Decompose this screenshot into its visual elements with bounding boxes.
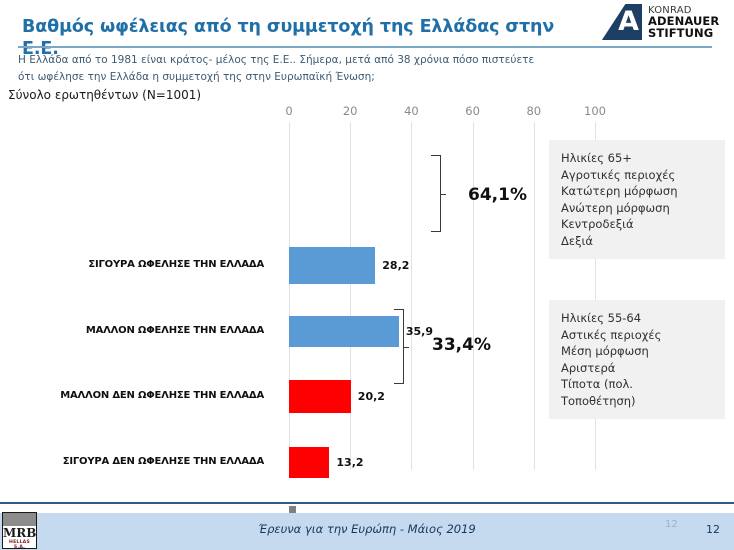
footer-page-number: 12 (706, 523, 720, 536)
footer-divider (0, 502, 734, 504)
bar-3 (289, 447, 329, 478)
bar-value-0: 28,2 (382, 259, 409, 272)
category-label-2: ΜΑΛΛΟΝ ΔΕΝ ΩΦΕΛΗΣΕ ΤΗΝ ΕΛΛΑΔΑ (8, 390, 278, 401)
x-axis-tick-40: 40 (404, 104, 419, 118)
mrb-wordmark: MRB (3, 526, 36, 540)
category-label-1: ΜΑΛΛΟΝ ΩΦΕΛΗΣΕ ΤΗΝ ΕΛΛΑΔΑ (8, 325, 278, 336)
gridline-40 (411, 122, 412, 470)
question-line-1: Η Ελλάδα από το 1981 είναι κράτος- μέλος… (18, 52, 578, 69)
mrb-logo-bar (3, 513, 36, 526)
bracket-1 (394, 309, 404, 384)
bar-0 (289, 247, 375, 284)
kas-letter-a: A (618, 7, 639, 37)
category-label-3: ΣΙΓΟΥΡΑ ΔΕΝ ΩΦΕΛΗΣΕ ΤΗΝ ΕΛΛΑΔΑ (8, 456, 278, 467)
kas-line-stiftung: STIFTUNG (648, 28, 719, 40)
x-axis-tick-100: 100 (584, 104, 606, 118)
bar-value-3: 13,2 (336, 456, 363, 469)
note-box-top: Ηλικίες 65+ Αγροτικές περιοχές Κατώτερη … (549, 140, 725, 259)
footer-caption: Έρευνα για την Ευρώπη - Μάιος 2019 (0, 522, 734, 536)
gridline-80 (534, 122, 535, 470)
question-line-2: ότι ωφέλησε την Ελλάδα η συμμετοχή της σ… (18, 69, 578, 86)
percentage-total-0: 64,1% (468, 185, 527, 205)
bar-1 (289, 316, 399, 347)
x-axis-tick-60: 60 (465, 104, 480, 118)
x-axis-tick-80: 80 (526, 104, 541, 118)
title-divider (18, 46, 712, 48)
category-label-0: ΣΙΓΟΥΡΑ ΩΦΕΛΗΣΕ ΤΗΝ ΕΛΛΑΔΑ (8, 259, 278, 270)
bar-value-2: 20,2 (358, 390, 385, 403)
bracket-0 (431, 155, 441, 232)
footer-page-number-faint: 12 (665, 519, 678, 530)
bar-value-1: 35,9 (406, 325, 433, 338)
kas-mark-icon: A (602, 4, 642, 40)
note-box-bottom: Ηλικίες 55-64 Αστικές περιοχές Μέση μόρφ… (549, 300, 725, 419)
kas-wordmark: KONRAD ADENAUER STIFTUNG (648, 5, 719, 40)
x-axis-tick-0: 0 (285, 104, 292, 118)
percentage-total-1: 33,4% (432, 335, 491, 355)
gridline-0 (289, 122, 290, 470)
x-axis-tick-20: 20 (343, 104, 358, 118)
mrb-logo: MRB HELLAS S.A. (2, 512, 37, 549)
gridline-60 (473, 122, 474, 470)
mrb-subtitle: HELLAS S.A. (3, 540, 36, 549)
slide-canvas: Βαθμός ωφέλειας από τη συμμετοχή της Ελλ… (0, 0, 734, 550)
question-text: Η Ελλάδα από το 1981 είναι κράτος- μέλος… (18, 52, 578, 86)
bar-2 (289, 380, 351, 413)
konrad-adenauer-stiftung-logo: A KONRAD ADENAUER STIFTUNG (602, 2, 726, 42)
gridline-20 (350, 122, 351, 470)
